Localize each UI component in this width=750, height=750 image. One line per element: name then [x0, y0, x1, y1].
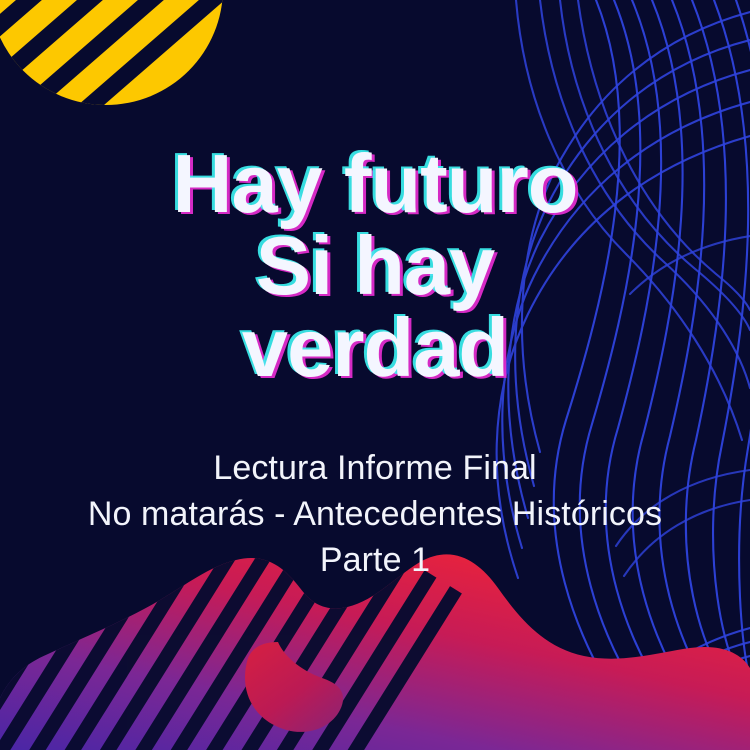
subtitle-line-2: No matarás - Antecedentes Históricos: [0, 492, 750, 538]
poster-subtitle: Lectura Informe Final No matarás - Antec…: [0, 446, 750, 584]
poster-canvas: Hay futuro Si hay verdad Lectura Informe…: [0, 0, 750, 750]
title-line-3: verdad: [0, 307, 750, 389]
subtitle-line-1: Lectura Informe Final: [0, 446, 750, 492]
title-line-1: Hay futuro: [0, 143, 750, 225]
subtitle-line-3: Parte 1: [0, 538, 750, 584]
title-line-2: Si hay: [0, 225, 750, 307]
poster-title: Hay futuro Si hay verdad: [0, 143, 750, 389]
poster-text-content: Hay futuro Si hay verdad Lectura Informe…: [0, 0, 750, 750]
